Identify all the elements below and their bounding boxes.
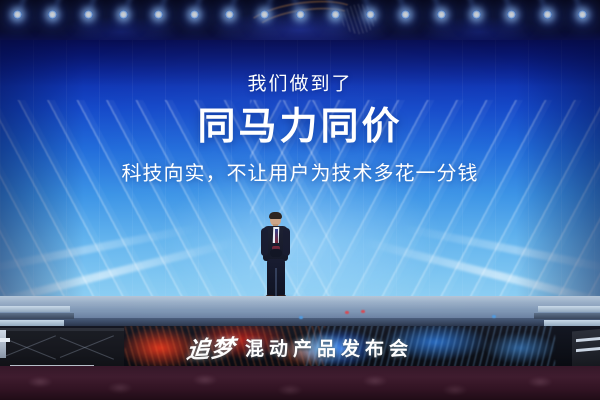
presenter-tie [275,229,278,243]
presenter-left-arm [261,228,268,256]
rig-side-rail [0,330,6,358]
ceiling-fan-fixture [342,4,376,34]
presenter-right-arm [283,228,290,256]
spotlight-fixture [190,10,199,19]
spotlight-fixture [543,10,552,19]
stage-deck-edge [0,318,600,326]
keynote-subline: 科技向实，不让用户为技术多花一分钱 [0,160,600,188]
ceiling-truss [0,0,600,42]
carpet-pattern [0,366,600,400]
keynote-text-block: 我们做到了 同马力同价 科技向实，不让用户为技术多花一分钱 [0,72,600,188]
keynote-kicker: 我们做到了 [0,72,600,98]
spotlight-fixture [366,10,375,19]
presenter-hands [270,249,282,257]
spotlight-fixture [472,10,481,19]
spotlight-fixture [437,10,446,19]
spotlight-fixture [296,10,305,19]
stage-marker-light [345,311,349,314]
venue-carpet [0,366,600,400]
stage-scene: 我们做到了 同马力同价 科技向实，不让用户为技术多花一分钱 [0,0,600,400]
spotlight-fixture [84,10,93,19]
presenter-hair [269,212,282,219]
spotlight-fixture [119,10,128,19]
spotlight-fixture [331,10,340,19]
stage-marker-light [299,316,303,319]
banner-main-text: 混动产品发布会 [245,334,413,361]
stage-deck-sheen [0,296,600,310]
keynote-headline: 同马力同价 [0,104,600,150]
presenter [258,213,294,303]
stage-marker-light [492,315,496,318]
spotlight-fixture [578,10,587,19]
presenter-leg-gap [275,268,277,297]
rig-side-rail-top [0,338,10,342]
banner-calligraphy-text: 追梦 [185,329,237,365]
stage-marker-light [361,310,365,313]
spotlight-fixture [225,10,234,19]
